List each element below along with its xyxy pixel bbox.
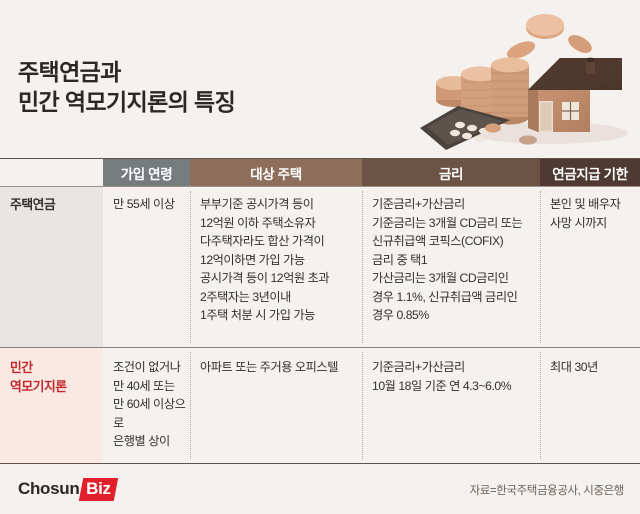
row-1-divider-2: [362, 191, 363, 343]
table-cell-row1-rate: 기준금리+가산금리 기준금리는 3개월 CD금리 또는 신규취급액 코픽스(CO…: [372, 195, 544, 325]
logo-biz-badge: Biz: [79, 478, 118, 501]
table-bottom-rule: [0, 463, 640, 464]
table-cell-row1-house: 부부기준 공시가격 등이 12억원 이하 주택소유자 다주택자라도 합산 가격이…: [200, 195, 360, 325]
table-cell-row1-age: 만 55세 이상: [113, 195, 185, 214]
chosunbiz-logo: Chosun Biz: [18, 478, 116, 500]
comparison-table: 가입 연령 대상 주택 금리 연금지급 기한 주택연금 만 55세 이상 부부기…: [0, 158, 640, 464]
table-cell-row2-house: 아파트 또는 주거용 오피스텔: [200, 358, 365, 377]
coin-stack-tall: [491, 58, 529, 125]
table-cell-row1-term: 본인 및 배우자 사망 시까지: [550, 195, 636, 232]
row-1-divider-1: [190, 191, 191, 343]
table-row-label-housing-pension: 주택연금: [10, 195, 100, 214]
column-header-term: 연금지급 기한: [540, 159, 640, 186]
column-header-rate: 금리: [362, 159, 540, 186]
column-header-age: 가입 연령: [103, 159, 190, 186]
house-icon: [528, 58, 622, 132]
page-title-line-1: 주택연금과: [18, 58, 235, 88]
column-header-house: 대상 주택: [190, 159, 362, 186]
page-title: 주택연금과 민간 역모기지론의 특징: [18, 58, 235, 118]
floating-coins: [504, 14, 594, 62]
source-attribution: 자료=한국주택금융공사, 시중은행: [470, 482, 624, 498]
house-coins-illustration: [400, 2, 640, 154]
table-cell-row2-age: 조건이 없거나 만 40세 또는 만 60세 이상으로 은행별 상이: [113, 358, 191, 451]
table-cell-row2-term: 최대 30년: [550, 358, 636, 377]
ground-coin: [519, 135, 537, 144]
table-row-label-private-reverse-mortgage: 민간 역모기지론: [10, 358, 100, 397]
table-cell-row2-rate: 기준금리+가산금리 10월 18일 기준 연 4.3~6.0%: [372, 358, 544, 395]
logo-text-biz: Biz: [87, 479, 112, 499]
page-title-line-2: 민간 역모기지론의 특징: [18, 88, 235, 118]
logo-text-chosun: Chosun: [18, 479, 79, 499]
infographic-page: 주택연금과 민간 역모기지론의 특징: [0, 0, 640, 514]
